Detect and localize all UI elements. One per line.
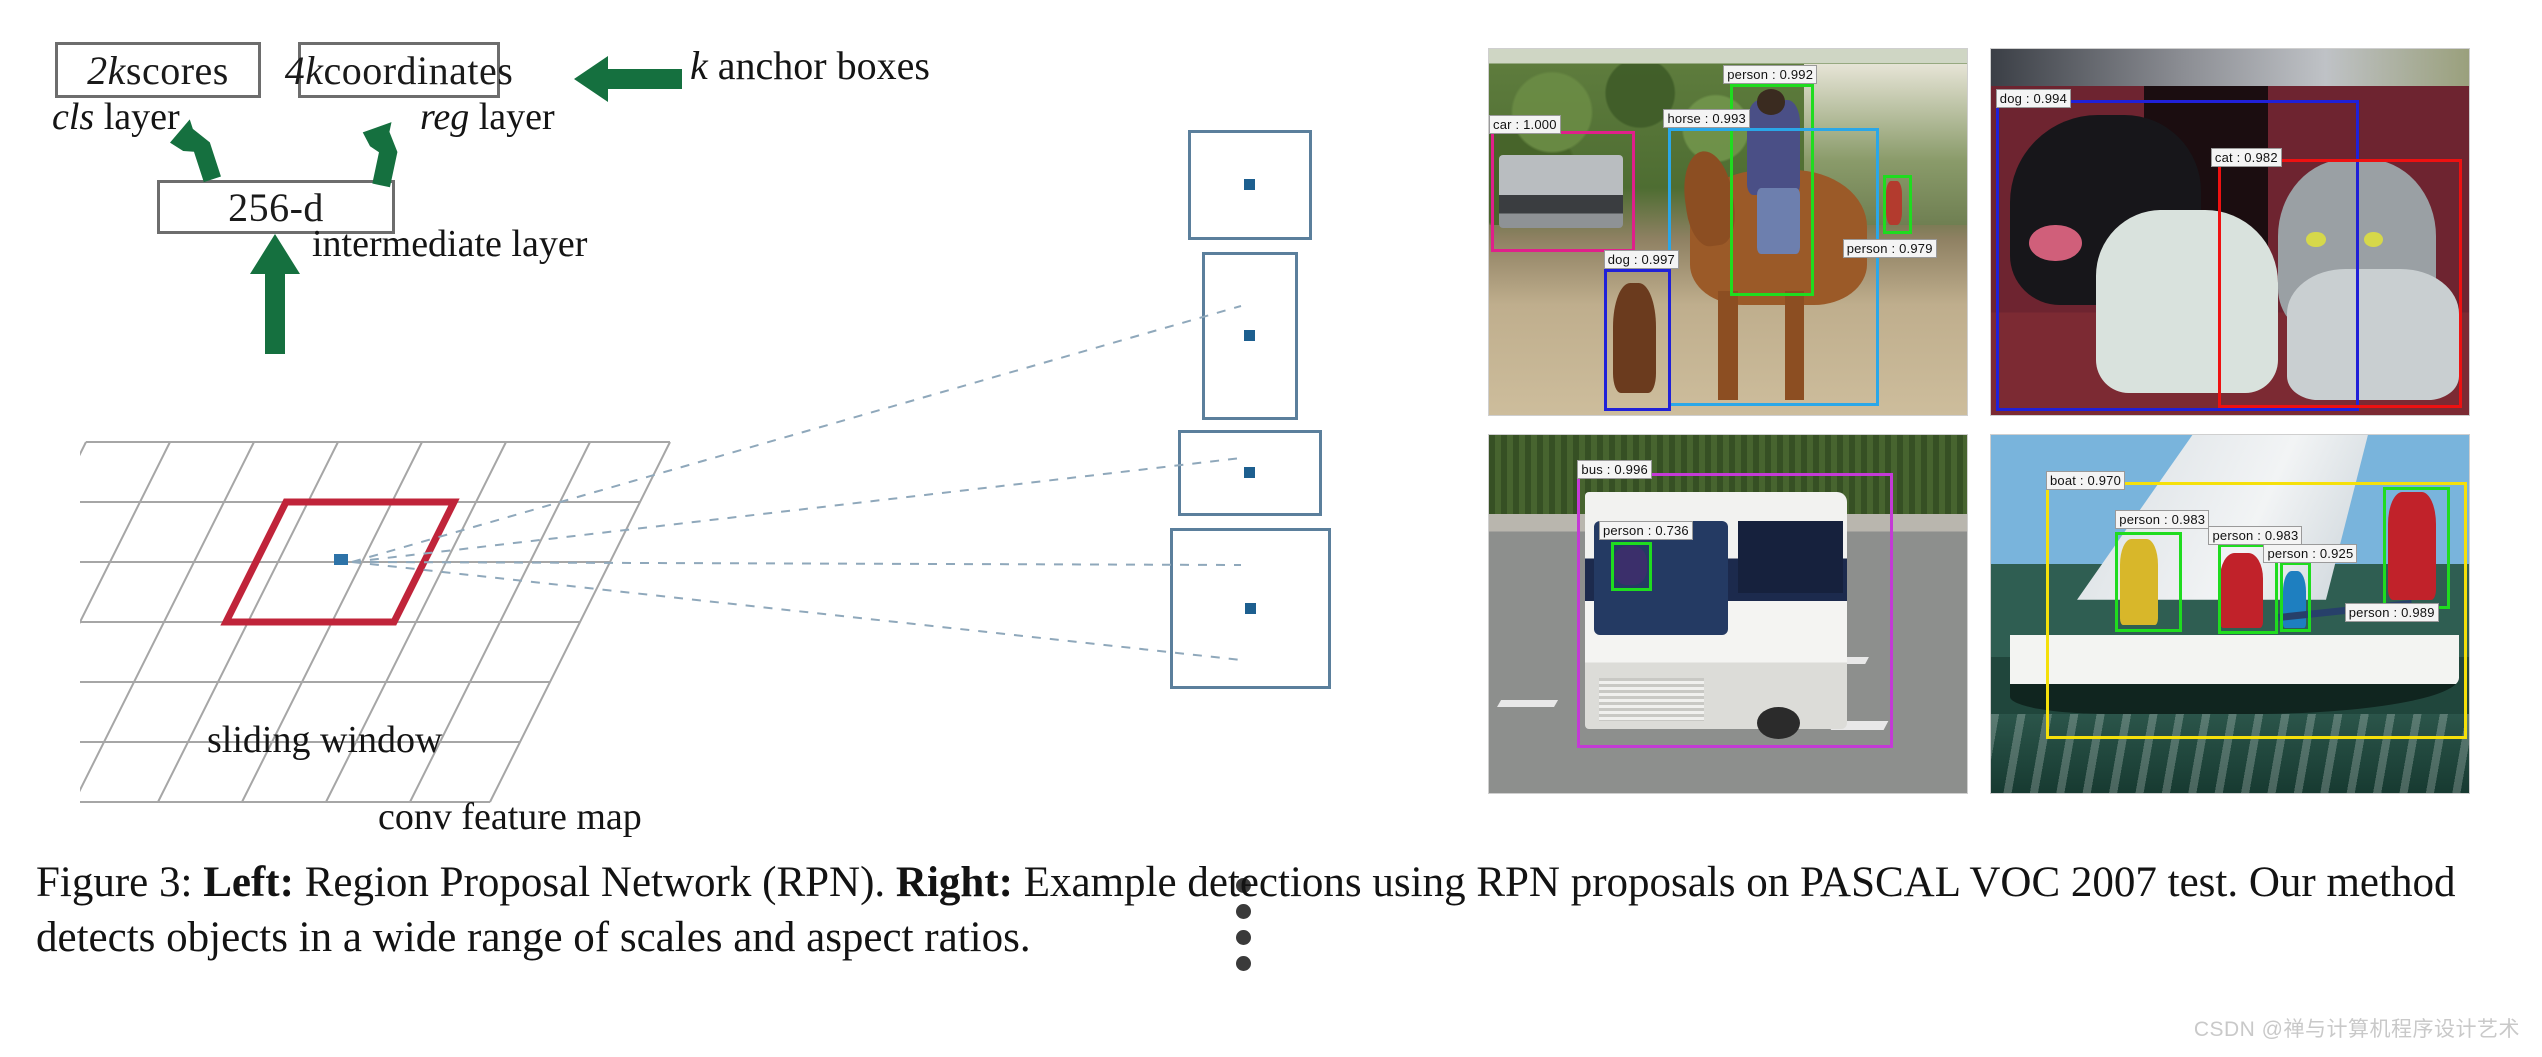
detection-image-sailboat: boat : 0.970person : 0.983person : 0.983… <box>1990 434 2470 794</box>
reg-coordinates-k: 4k <box>285 47 324 94</box>
bbox-label: person : 0.983 <box>2208 526 2302 545</box>
bbox-label: dog : 0.997 <box>1604 250 1679 269</box>
reg-layer-label: reg layer <box>420 95 555 139</box>
bbox-label: person : 0.925 <box>2263 544 2357 563</box>
bbox-label: cat : 0.982 <box>2211 148 2282 167</box>
anchor-box-2 <box>1202 252 1298 420</box>
anchor-boxes-k: k <box>690 43 708 88</box>
reg-coordinates-text: coordinates <box>323 47 513 94</box>
anchor-center-dot-2 <box>1244 330 1255 341</box>
figure-caption: Figure 3: Left: Region Proposal Network … <box>36 855 2506 965</box>
detection-image-horse-rider: car : 1.000person : 0.992horse : 0.993do… <box>1488 48 1968 416</box>
bbox-label: person : 0.992 <box>1723 65 1817 84</box>
detection-examples-grid: car : 1.000person : 0.992horse : 0.993do… <box>1488 48 2498 818</box>
bbox-label: bus : 0.996 <box>1577 460 1652 479</box>
anchor-boxes-rest: anchor boxes <box>708 43 930 88</box>
anchor-center-dot-3 <box>1244 467 1255 478</box>
anchor-box-3 <box>1178 430 1322 516</box>
intermediate-layer-label: intermediate layer <box>312 222 587 266</box>
conv-feature-map-label: conv feature map <box>378 795 642 839</box>
anchor-boxes-label: k anchor boxes <box>690 42 930 89</box>
detection-image-dog-cat: dog : 0.994cat : 0.982 <box>1990 48 2470 416</box>
bbox-label: person : 0.983 <box>2115 510 2209 529</box>
caption-prefix: Figure 3: <box>36 859 203 906</box>
bbox-label: car : 1.000 <box>1489 115 1561 134</box>
bbox-label: boat : 0.970 <box>2046 471 2125 490</box>
bbox-person-3 <box>2280 562 2311 632</box>
road-marking-left <box>1496 700 1557 707</box>
bbox-label: horse : 0.993 <box>1663 109 1750 128</box>
bbox-label: person : 0.989 <box>2345 603 2439 622</box>
anchor-center-dot-1 <box>1244 179 1255 190</box>
anchor-box-1 <box>1188 130 1312 240</box>
bbox-person-1 <box>2115 532 2182 632</box>
detection-image-bus: bus : 0.996person : 0.736 <box>1488 434 1968 794</box>
bbox-person-1 <box>1611 542 1652 590</box>
figure-3: 2k scores 4k coordinates cls layer reg l… <box>0 0 2542 1057</box>
caption-left-text: Region Proposal Network (RPN). <box>294 859 896 906</box>
arrow-left-anchors-icon <box>572 52 684 106</box>
conv-feature-map-grid <box>80 430 740 830</box>
csdn-watermark: CSDN @禅与计算机程序设计艺术 <box>2194 1013 2520 1043</box>
cls-scores-box: 2k scores <box>55 42 261 98</box>
sliding-window-label: sliding window <box>207 718 442 762</box>
intermediate-256d-label: 256-d <box>228 184 324 231</box>
cls-layer-italic: cls <box>52 96 94 138</box>
caption-left-bold: Left: <box>203 859 294 906</box>
arrow-to-reg-icon <box>355 118 425 188</box>
reg-layer-italic: reg <box>420 96 469 138</box>
bbox-person-4 <box>1883 175 1912 234</box>
bbox-dog-3 <box>1604 269 1671 412</box>
arrow-to-intermediate-icon <box>244 232 306 357</box>
cls-scores-k: 2k <box>87 47 126 94</box>
anchor-boxes-stack <box>1160 130 1330 820</box>
bbox-cat-1 <box>2218 159 2462 408</box>
bbox-label: person : 0.736 <box>1599 521 1693 540</box>
bbox-label: person : 0.979 <box>1843 239 1937 258</box>
bbox-bus-0 <box>1577 473 1892 749</box>
cls-layer-label: cls layer <box>52 95 180 139</box>
caption-right-bold: Right: <box>896 859 1013 906</box>
bbox-car-0 <box>1491 131 1634 252</box>
rpn-diagram: 2k scores 4k coordinates cls layer reg l… <box>0 0 1470 840</box>
bbox-person-4 <box>2383 487 2450 609</box>
cls-scores-text: scores <box>126 47 229 94</box>
bbox-horse-2 <box>1668 128 1878 406</box>
arrow-to-cls-icon <box>170 118 240 188</box>
bbox-label: dog : 0.994 <box>1996 89 2071 108</box>
cls-layer-rest: layer <box>94 96 179 138</box>
anchor-box-4 <box>1170 528 1331 689</box>
background-shelf <box>1991 49 2469 86</box>
reg-layer-rest: layer <box>469 96 554 138</box>
anchor-center-dot-4 <box>1245 603 1256 614</box>
reg-coordinates-box: 4k coordinates <box>298 42 500 98</box>
